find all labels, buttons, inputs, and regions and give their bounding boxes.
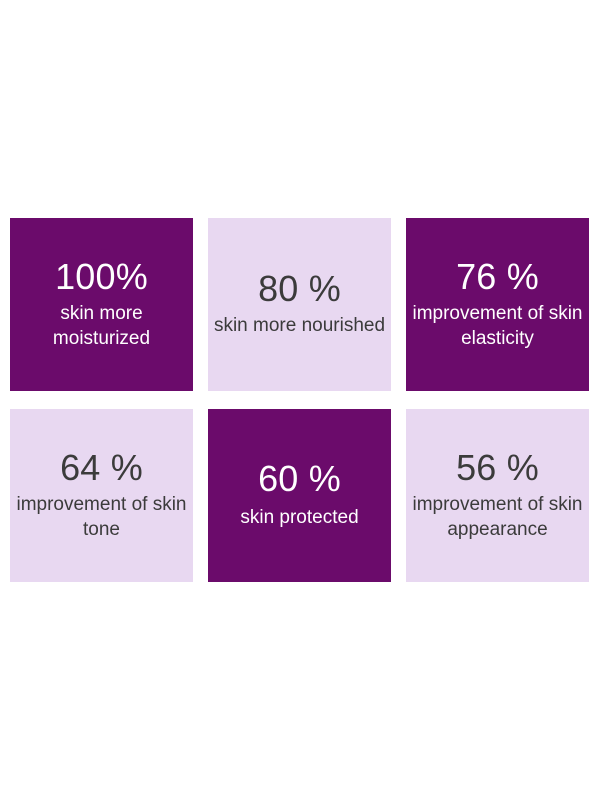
stat-label: skin more moisturized	[14, 301, 189, 352]
stat-value: 64 %	[60, 449, 143, 488]
stat-value: 60 %	[258, 460, 341, 499]
stat-tile-nourished: 80 % skin more nourished	[208, 218, 391, 391]
stat-value: 100%	[55, 258, 148, 297]
stats-grid: 100% skin more moisturized 80 % skin mor…	[10, 218, 590, 582]
stat-value: 80 %	[258, 270, 341, 309]
stat-tile-skin-elasticity: 76 % improvement of skin elasticity	[406, 218, 589, 391]
stat-value: 56 %	[456, 449, 539, 488]
stat-tile-moisturized: 100% skin more moisturized	[10, 218, 193, 391]
stat-tile-skin-tone: 64 % improvement of skin tone	[10, 409, 193, 582]
stat-label: improvement of skin appearance	[410, 492, 585, 543]
stat-label: skin more nourished	[214, 313, 385, 338]
stat-tile-skin-protected: 60 % skin protected	[208, 409, 391, 582]
stat-label: improvement of skin elasticity	[410, 301, 585, 352]
stat-value: 76 %	[456, 258, 539, 297]
stat-tile-skin-appearance: 56 % improvement of skin appearance	[406, 409, 589, 582]
stat-label: skin protected	[240, 505, 358, 530]
stat-label: improvement of skin tone	[14, 492, 189, 543]
